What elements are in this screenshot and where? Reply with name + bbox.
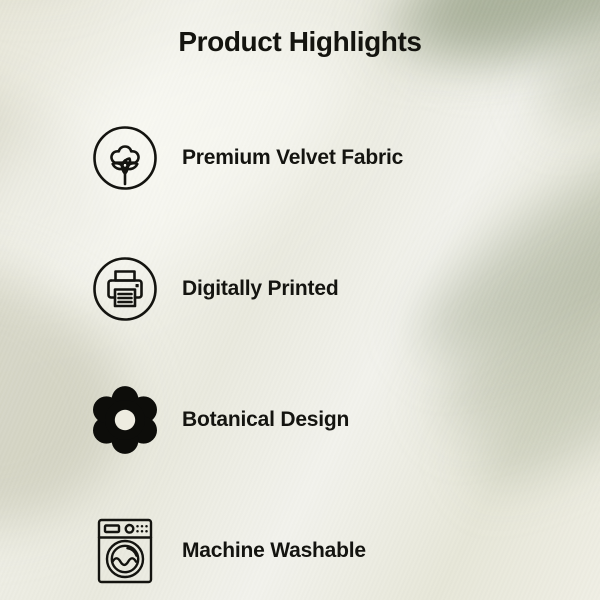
feature-item-premium-velvet-fabric: Premium Velvet Fabric xyxy=(0,92,600,223)
product-highlights-graphic: Product Highlights Premium Velvet Fabric xyxy=(0,0,600,600)
feature-label: Digitally Printed xyxy=(182,277,338,301)
feature-label: Machine Washable xyxy=(182,539,366,563)
feature-item-machine-washable: Machine Washable xyxy=(0,485,600,600)
washing-machine-icon xyxy=(86,512,164,590)
flower-icon xyxy=(86,381,164,459)
feature-list: Premium Velvet Fabric xyxy=(0,92,600,600)
cotton-boll-icon xyxy=(86,119,164,197)
feature-item-botanical-design: Botanical Design xyxy=(0,354,600,485)
feature-label: Botanical Design xyxy=(182,408,349,432)
page-title: Product Highlights xyxy=(0,26,600,58)
feature-item-digitally-printed: Digitally Printed xyxy=(0,223,600,354)
feature-label: Premium Velvet Fabric xyxy=(182,146,403,170)
printer-icon xyxy=(86,250,164,328)
content-layer: Product Highlights Premium Velvet Fabric xyxy=(0,0,600,600)
